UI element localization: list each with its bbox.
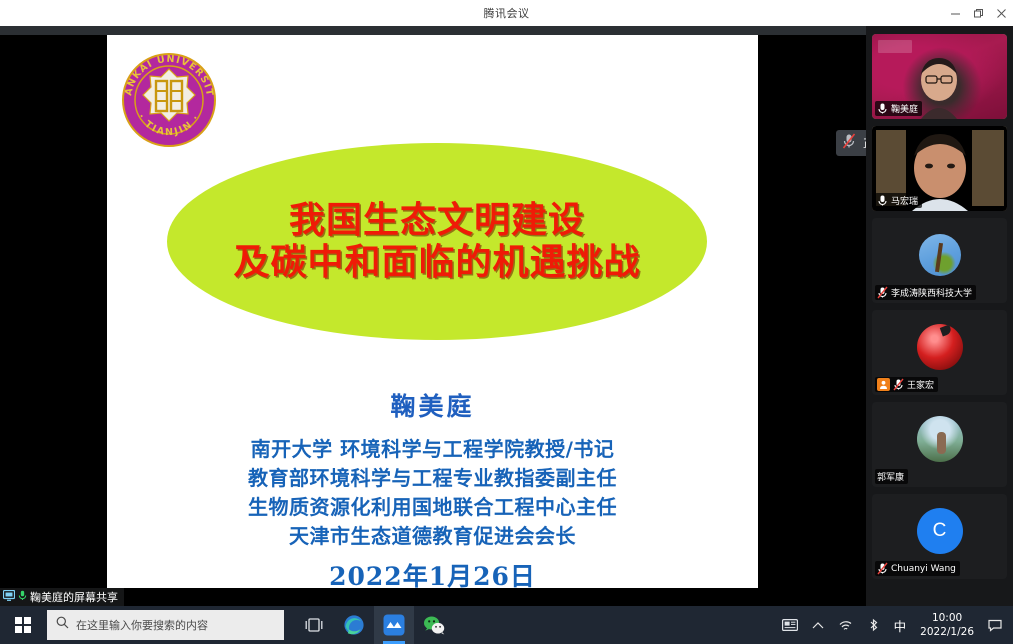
windows-start-icon[interactable] (0, 606, 46, 644)
edge-icon[interactable] (334, 606, 374, 644)
participant-panel[interactable]: 鞠美庭 (866, 26, 1013, 614)
participant-name-bar: 鞠美庭 (875, 101, 922, 116)
slide-title-line-2: 及碳中和面临的机遇挑战 (233, 242, 640, 284)
participant-name-bar: 郭军康 (875, 469, 908, 484)
participant-name-bar: Chuanyi Wang (875, 561, 960, 576)
participant-tile[interactable]: 鞠美庭 (872, 34, 1007, 119)
mic-on-icon (877, 194, 888, 207)
windows-taskbar: 在这里输入你要搜索的内容 (0, 606, 1013, 644)
notification-icon[interactable] (981, 606, 1009, 644)
mic-muted-icon (877, 286, 888, 299)
participant-avatar (917, 416, 963, 462)
close-button[interactable] (990, 0, 1013, 26)
presenter-name: 鞠美庭 (107, 387, 758, 423)
screen-share-indicator: 鞠美庭的屏幕共享 (0, 588, 124, 606)
presentation-slide: NANKAI UNIVERSITY · TIANJIN · 我国生态文明建设 及… (107, 35, 758, 588)
mic-muted-icon (893, 378, 904, 391)
participant-name-bar: 马宏瑞 (875, 193, 922, 208)
clock-time: 10:00 (920, 611, 974, 625)
mic-muted-icon (877, 562, 888, 575)
tencent-meeting-icon[interactable] (374, 606, 414, 644)
system-tray: 中 10:00 2022/1/26 (775, 606, 1013, 644)
taskbar-app-list (294, 606, 454, 644)
news-weather-icon[interactable] (775, 606, 805, 644)
participant-name-bar: 李成涛陕西科技大学 (875, 285, 976, 300)
minimize-button[interactable] (944, 0, 967, 26)
participant-tile[interactable]: 郭军康 (872, 402, 1007, 487)
presenter-affiliation-4: 天津市生态道德教育促进会会长 (107, 522, 758, 551)
maximize-restore-button[interactable] (967, 0, 990, 26)
presenter-affiliation-2: 教育部环境科学与工程专业教指委副主任 (107, 464, 758, 493)
search-placeholder: 在这里输入你要搜索的内容 (76, 617, 208, 633)
participant-name: Chuanyi Wang (891, 564, 956, 574)
monitor-icon (3, 588, 15, 606)
participant-name: 王家宏 (907, 378, 934, 391)
participant-tile[interactable]: 王家宏 (872, 310, 1007, 395)
participant-name-bar: 王家宏 (875, 377, 938, 392)
participant-name: 马宏瑞 (891, 194, 918, 207)
participant-tile[interactable]: C Chuanyi Wang (872, 494, 1007, 579)
search-input[interactable]: 在这里输入你要搜索的内容 (47, 610, 284, 640)
mic-on-icon (18, 588, 27, 606)
presenter-affiliation-1: 南开大学 环境科学与工程学院教授/书记 (107, 435, 758, 464)
participant-tile[interactable]: 马宏瑞 (872, 126, 1007, 211)
search-icon (56, 616, 69, 634)
window-title-bar: 腾讯会议 (0, 0, 1013, 26)
chevron-up-icon[interactable] (805, 606, 831, 644)
window-controls (944, 0, 1013, 26)
wechat-icon[interactable] (414, 606, 454, 644)
slide-presenter-block: 鞠美庭 南开大学 环境科学与工程学院教授/书记 教育部环境科学与工程专业教指委副… (107, 387, 758, 588)
screen-share-label: 鞠美庭的屏幕共享 (30, 589, 118, 605)
wifi-icon[interactable] (831, 606, 860, 644)
ime-indicator: 中 (894, 616, 907, 635)
participant-name: 鞠美庭 (891, 102, 918, 115)
taskbar-clock[interactable]: 10:00 2022/1/26 (913, 611, 981, 639)
host-badge-icon (877, 378, 890, 391)
participant-name: 李成涛陕西科技大学 (891, 286, 972, 299)
participant-avatar: C (917, 508, 963, 554)
participant-name: 郭军康 (877, 470, 904, 483)
avatar-letter: C (933, 520, 947, 542)
shared-screen-stage: NANKAI UNIVERSITY · TIANJIN · 我国生态文明建设 及… (0, 35, 866, 588)
mic-on-icon (877, 102, 888, 115)
task-view-icon[interactable] (294, 606, 334, 644)
participant-avatar (917, 324, 963, 370)
bluetooth-icon[interactable] (860, 606, 887, 644)
slide-title-line-1: 我国生态文明建设 (289, 200, 585, 242)
mic-muted-icon (841, 132, 857, 155)
participant-tile[interactable]: 李成涛陕西科技大学 (872, 218, 1007, 303)
window-title: 腾讯会议 (484, 5, 530, 21)
toolbar-strip (0, 26, 866, 35)
participant-avatar (919, 234, 961, 276)
slide-date: 2022年1月26日 (107, 557, 758, 588)
clock-date: 2022/1/26 (920, 625, 974, 639)
presenter-affiliation-3: 生物质资源化利用国地联合工程中心主任 (107, 493, 758, 522)
slide-title-ellipse: 我国生态文明建设 及碳中和面临的机遇挑战 (167, 143, 707, 340)
nankai-university-logo-icon: NANKAI UNIVERSITY · TIANJIN · (114, 45, 224, 155)
